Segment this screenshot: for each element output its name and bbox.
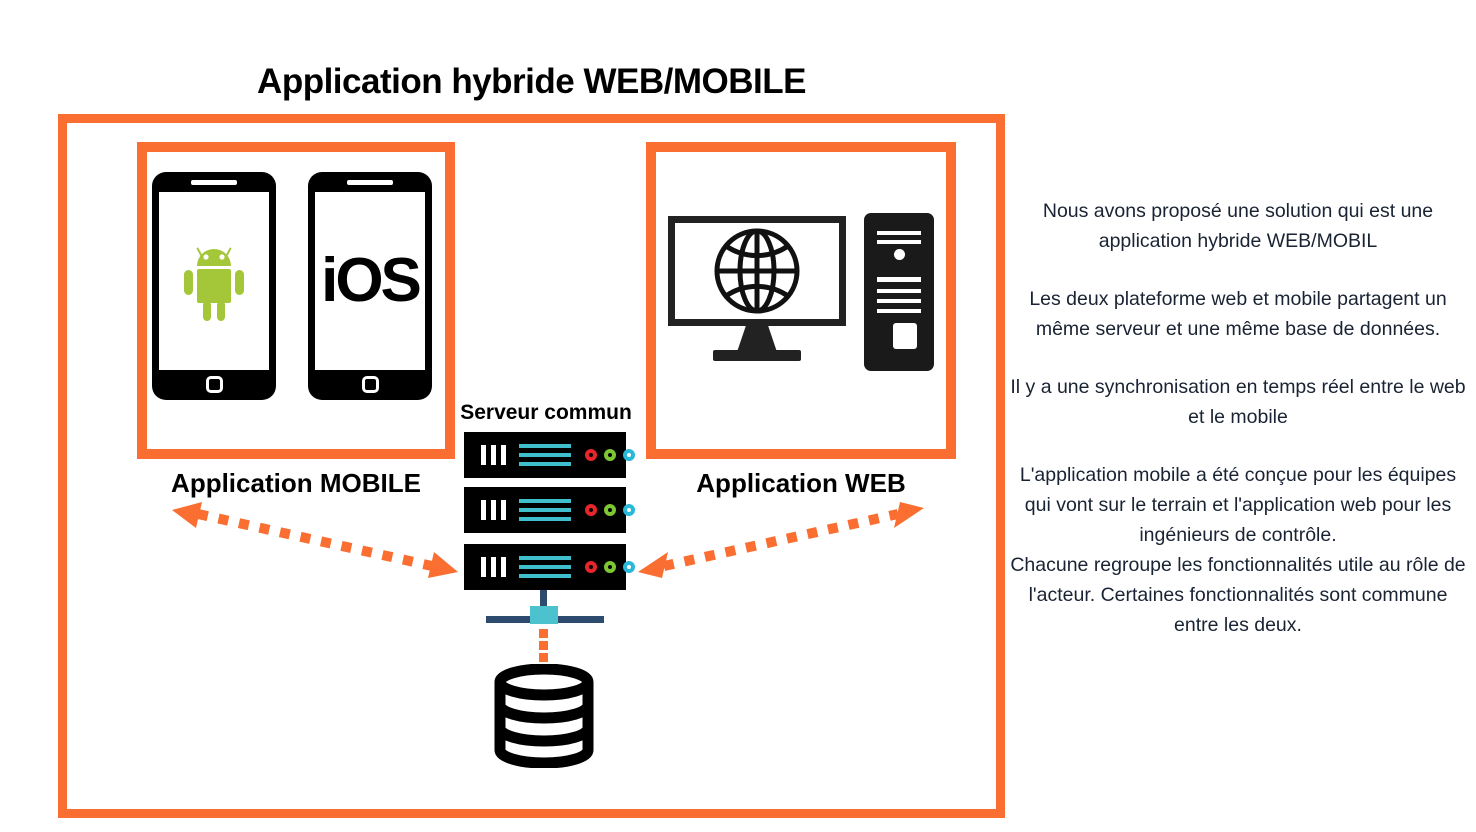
desktop-computer-group: [668, 210, 934, 380]
server-bars: [481, 445, 506, 465]
server-line: [519, 508, 571, 512]
connector-dot: [539, 653, 548, 662]
tower-vent-line: [877, 277, 921, 282]
android-phone-screen: [159, 192, 269, 370]
server-unit: [464, 544, 626, 590]
server-led-red: [585, 561, 597, 573]
description-paragraph: Il y a une synchronisation en temps réel…: [1010, 372, 1466, 432]
server-line: [519, 453, 571, 457]
description-paragraph: Nous avons proposé une solution qui est …: [1010, 196, 1466, 256]
server-unit: [464, 432, 626, 478]
tower-vent-line: [877, 231, 921, 235]
server-connector-hub: [530, 606, 558, 624]
server-bars: [481, 500, 506, 520]
server-line: [519, 556, 571, 560]
server-bar: [481, 445, 486, 465]
server-bar: [501, 445, 506, 465]
server-led-red: [585, 504, 597, 516]
server-bar: [501, 557, 506, 577]
server-line: [519, 517, 571, 521]
server-label: Serveur commun: [446, 401, 646, 425]
server-bars: [481, 557, 506, 577]
server-led-green: [604, 449, 616, 461]
tower-vent-line: [877, 240, 921, 244]
monitor-base: [713, 350, 801, 361]
server-bar: [491, 445, 496, 465]
phone-home-button: [206, 376, 223, 393]
description-text-column: Nous avons proposé une solution qui est …: [1010, 196, 1466, 640]
pc-tower-icon: [864, 213, 934, 371]
server-leds: [585, 561, 635, 573]
android-robot-icon: [175, 239, 253, 323]
globe-icon: [709, 225, 805, 317]
server-led-cyan: [623, 561, 635, 573]
server-bar: [481, 557, 486, 577]
tower-vent-line: [877, 299, 921, 303]
tower-power-dot: [894, 249, 905, 260]
description-paragraph: L'application mobile a été conçue pour l…: [1010, 460, 1466, 550]
database-cylinder-icon: [492, 664, 596, 768]
phone-speaker: [347, 180, 393, 185]
desktop-monitor-icon: [668, 216, 846, 326]
ios-phone-icon: iOS: [308, 172, 432, 400]
server-led-cyan: [623, 504, 635, 516]
server-lines: [519, 556, 571, 578]
monitor-neck: [737, 326, 777, 352]
server-line: [519, 574, 571, 578]
page-title: Application hybride WEB/MOBILE: [58, 62, 1005, 102]
phone-speaker: [191, 180, 237, 185]
server-led-red: [585, 449, 597, 461]
server-line: [519, 499, 571, 503]
ios-label: iOS: [321, 250, 419, 312]
server-bar: [491, 500, 496, 520]
android-phone-icon: [152, 172, 276, 400]
server-line: [519, 444, 571, 448]
description-paragraph: Chacune regroupe les fonctionnalités uti…: [1010, 550, 1466, 640]
server-line: [519, 462, 571, 466]
mobile-panel-label: Application MOBILE: [137, 468, 455, 499]
connector-dot: [539, 629, 548, 638]
server-bar: [501, 500, 506, 520]
server-unit: [464, 487, 626, 533]
tower-vent-line: [877, 309, 921, 313]
server-line: [519, 565, 571, 569]
server-led-green: [604, 504, 616, 516]
server-lines: [519, 444, 571, 466]
server-bar: [491, 557, 496, 577]
connector-dot: [539, 641, 548, 650]
tower-vent-line: [877, 289, 921, 293]
web-server-arrow: [636, 500, 926, 580]
server-lines: [519, 499, 571, 521]
web-panel-label: Application WEB: [646, 468, 956, 499]
server-leds: [585, 449, 635, 461]
server-led-cyan: [623, 449, 635, 461]
tower-drive-slot: [893, 323, 917, 349]
server-bar: [481, 500, 486, 520]
phone-home-button: [362, 376, 379, 393]
mobile-server-arrow: [170, 500, 460, 580]
description-paragraph: Les deux plateforme web et mobile partag…: [1010, 284, 1466, 344]
ios-phone-screen: iOS: [315, 192, 425, 370]
server-leds: [585, 504, 635, 516]
server-led-green: [604, 561, 616, 573]
